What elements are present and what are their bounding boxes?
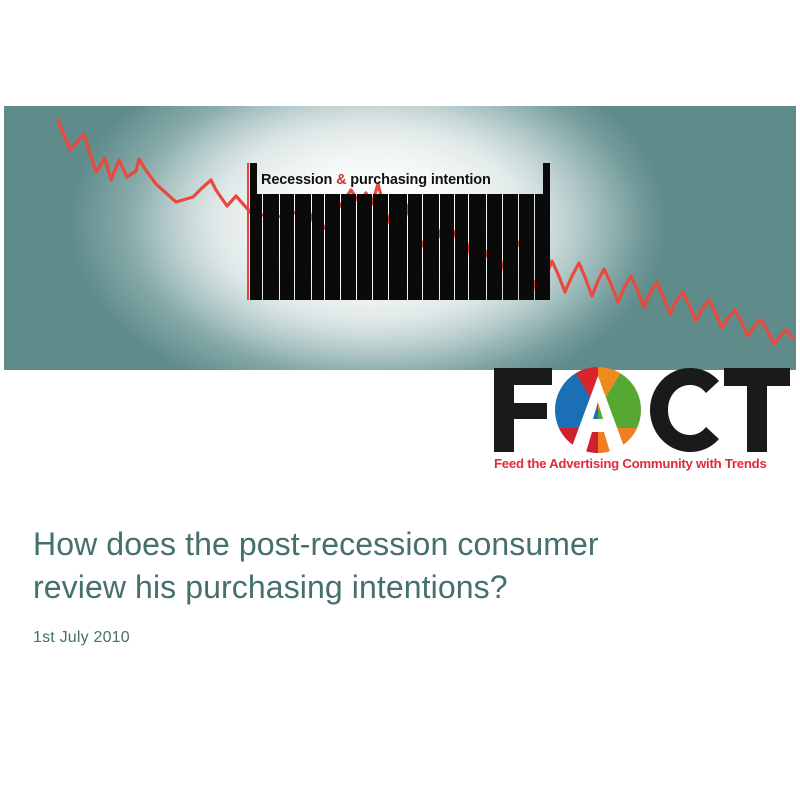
barcode-bar xyxy=(265,194,271,300)
page-title-line-2: review his purchasing intentions? xyxy=(33,566,753,609)
logo-tagline: Feed the Advertising Community with Tren… xyxy=(494,456,792,471)
barcode-bar xyxy=(401,194,407,300)
barcode-title: Recession & purchasing intention xyxy=(261,167,547,193)
fact-logo: Feed the Advertising Community with Tren… xyxy=(492,366,792,478)
logo-letter-c xyxy=(633,367,719,453)
barcode-graphic: Recession & purchasing intention xyxy=(245,163,555,300)
barcode-bar xyxy=(327,194,333,300)
barcode-bar xyxy=(426,194,432,300)
barcode-bar xyxy=(373,194,379,300)
barcode-bar xyxy=(250,163,257,300)
title-block: How does the post-recession consumer rev… xyxy=(33,523,753,647)
barcode-bar xyxy=(537,194,543,300)
fact-logotype xyxy=(492,366,792,454)
logo-letter-t xyxy=(724,368,790,452)
barcode-bar xyxy=(455,194,461,300)
barcode-left-red-rule xyxy=(247,163,249,300)
barcode-title-suffix: purchasing intention xyxy=(346,172,490,188)
page-title-line-1: How does the post-recession consumer xyxy=(33,523,753,566)
logo-letter-f xyxy=(494,368,552,452)
barcode-bar xyxy=(510,194,516,300)
barcode-title-ampersand: & xyxy=(336,172,346,188)
barcode-title-prefix: Recession xyxy=(261,172,336,188)
barcode-bar xyxy=(300,194,306,300)
publication-date: 1st July 2010 xyxy=(33,629,753,647)
page-title: How does the post-recession consumer rev… xyxy=(33,523,753,609)
hero-banner: Recession & purchasing intention xyxy=(4,106,796,370)
logo-letter-a xyxy=(555,367,641,453)
barcode-bar xyxy=(478,194,484,300)
barcode-bar xyxy=(346,194,352,300)
